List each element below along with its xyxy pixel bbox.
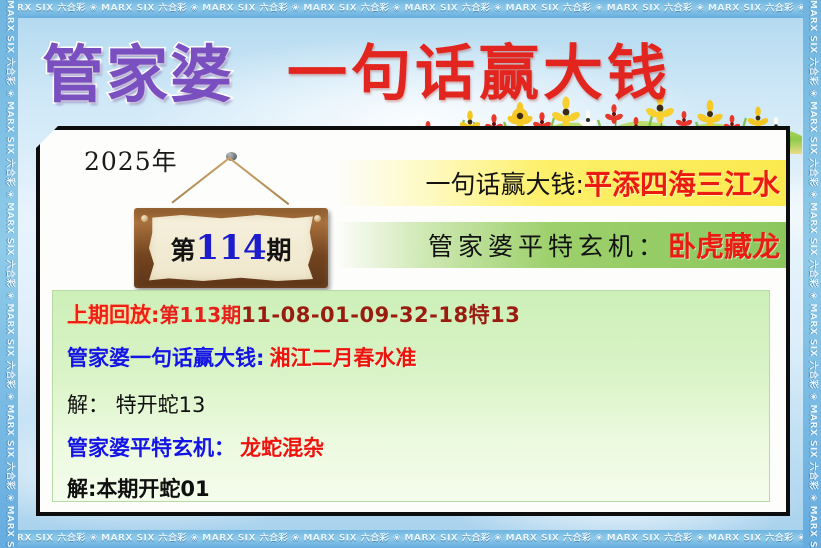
- mystery-label: 管家婆平特玄机：: [67, 436, 235, 460]
- sign-paper: 第114期: [149, 215, 313, 281]
- content-box: 上期回放:第113期11-08-01-09-32-18特13 管家婆一句话赢大钱…: [52, 290, 770, 502]
- border-top: MARX SIX 六合彩 ❀ MARX SIX 六合彩 ❀ MARX SIX 六…: [0, 0, 821, 18]
- page-background: 管家婆 一句话赢大钱 2025年 第114期 一句话赢大钱: 平添四海三江水: [0, 0, 821, 548]
- border-left-text: MARX SIX 六合彩 ❀ MARX SIX 六合彩 ❀ MARX SIX 六…: [5, 0, 14, 548]
- main-panel: 2025年 第114期 一句话赢大钱: 平添四海三江水 管家婆平特玄机： 卧虎藏…: [36, 126, 790, 516]
- border-bottom-text: MARX SIX 六合彩 ❀ MARX SIX 六合彩 ❀ MARX SIX 六…: [0, 535, 821, 544]
- slogan-label: 管家婆一句话赢大钱:: [67, 346, 264, 370]
- issue-value: 114: [196, 228, 267, 268]
- hanging-sign: 第114期: [110, 152, 350, 292]
- explanation-1-text: 解： 特开蛇13: [67, 393, 205, 417]
- last-issue-number: 第113期: [159, 303, 241, 327]
- mystery-value: 龙蛇混杂: [240, 436, 324, 460]
- page-title-slogan: 一句话赢大钱: [287, 44, 671, 104]
- issue-suffix: 期: [266, 236, 291, 265]
- row-explanation-2: 解:本期开蛇01: [67, 479, 755, 500]
- banner-yellow-label: 一句话赢大钱:: [426, 165, 584, 201]
- row-mystery: 管家婆平特玄机： 龙蛇混杂: [67, 438, 755, 459]
- row-slogan: 管家婆一句话赢大钱: 湘江二月春水准: [67, 348, 755, 369]
- row-explanation-1: 解： 特开蛇13: [67, 395, 755, 416]
- rope-right: [171, 156, 231, 203]
- header: 管家婆 一句话赢大钱: [0, 18, 821, 126]
- banner-green-value: 卧虎藏龙: [668, 225, 780, 265]
- issue-prefix: 第: [170, 236, 195, 265]
- banner-yellow: 一句话赢大钱: 平添四海三江水: [336, 160, 786, 206]
- row-last-issue: 上期回放:第113期11-08-01-09-32-18特13: [67, 305, 755, 326]
- issue-number: 第114期: [170, 231, 291, 265]
- border-top-text: MARX SIX 六合彩 ❀ MARX SIX 六合彩 ❀ MARX SIX 六…: [0, 5, 821, 14]
- rope-left: [230, 158, 290, 205]
- wooden-board: 第114期: [134, 208, 328, 288]
- explanation-2-text: 解:本期开蛇01: [67, 477, 210, 501]
- last-issue-label: 上期回放:: [67, 303, 159, 327]
- border-left: MARX SIX 六合彩 ❀ MARX SIX 六合彩 ❀ MARX SIX 六…: [0, 0, 18, 548]
- border-bottom: MARX SIX 六合彩 ❀ MARX SIX 六合彩 ❀ MARX SIX 六…: [0, 530, 821, 548]
- page-title-brand: 管家婆: [42, 44, 234, 106]
- border-right: MARX SIX 六合彩 ❀ MARX SIX 六合彩 ❀ MARX SIX 六…: [803, 0, 821, 548]
- banner-yellow-value: 平添四海三江水: [584, 163, 780, 203]
- last-issue-draw-numbers: 11-08-01-09-32-18特13: [241, 303, 520, 327]
- slogan-value: 湘江二月春水准: [270, 346, 417, 370]
- banner-green: 管家婆平特玄机： 卧虎藏龙: [336, 222, 786, 268]
- banner-green-label: 管家婆平特玄机：: [428, 227, 668, 263]
- border-right-text: MARX SIX 六合彩 ❀ MARX SIX 六合彩 ❀ MARX SIX 六…: [808, 0, 817, 548]
